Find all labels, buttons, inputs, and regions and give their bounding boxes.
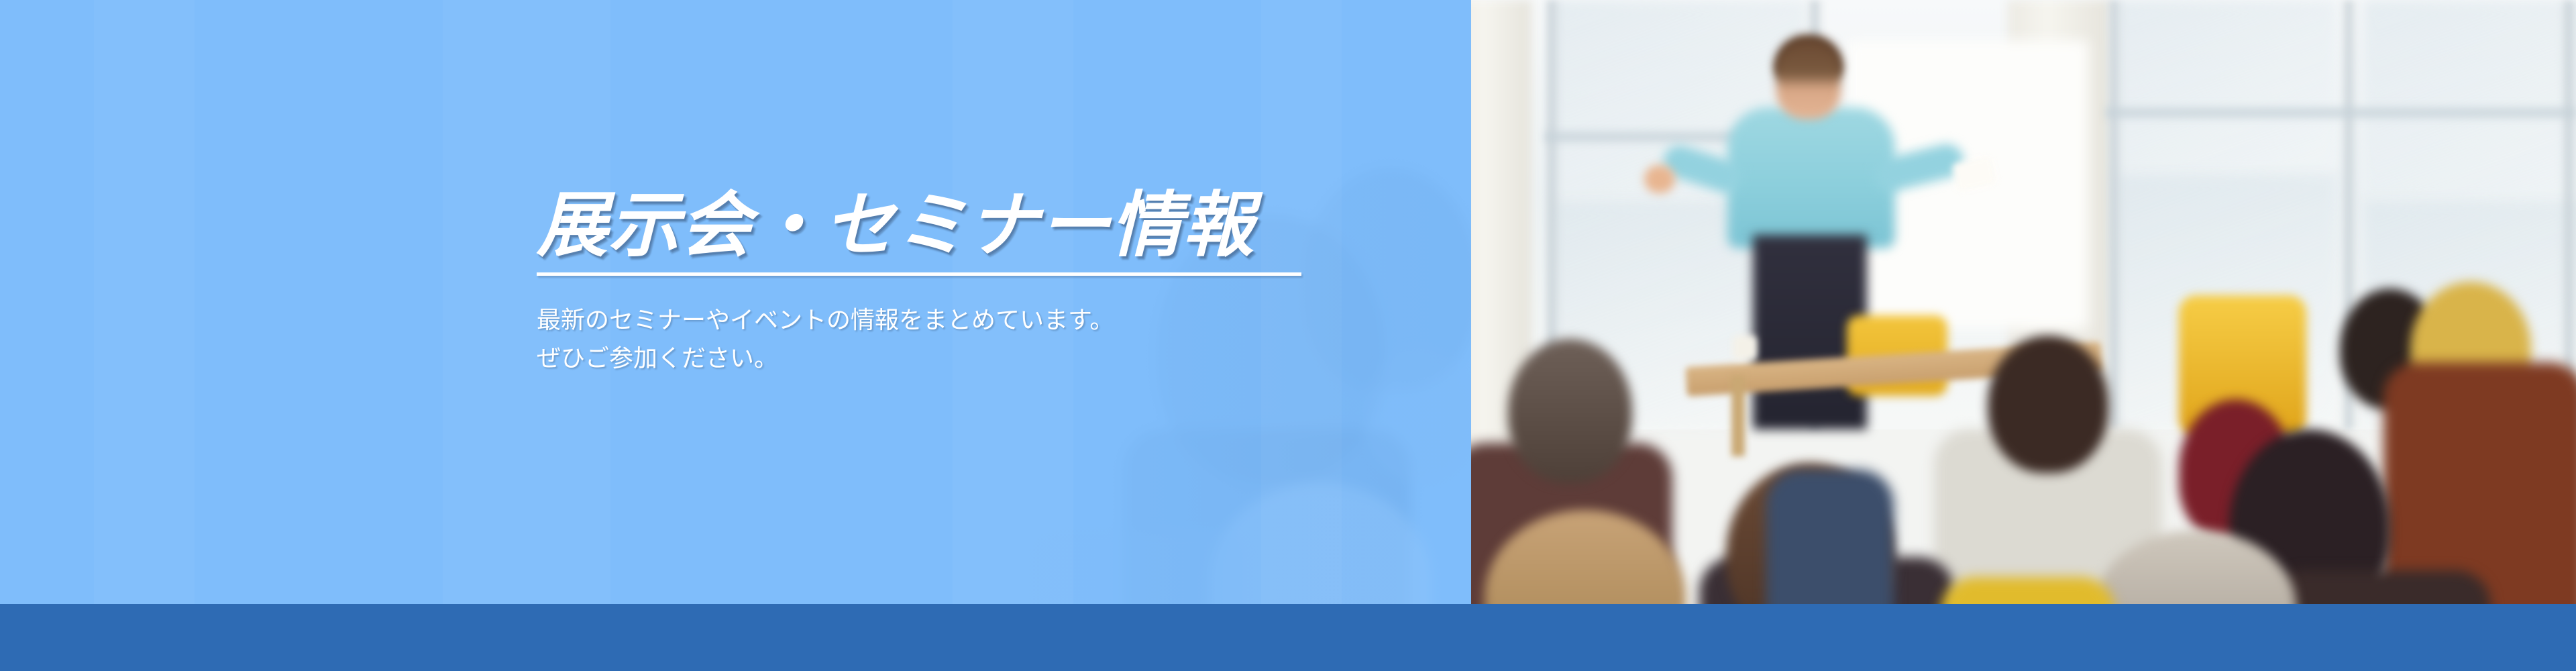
hero-subtitle-line-2: ぜひご参加ください。 [537, 340, 1409, 378]
page-title: 展示会・セミナー情報 [537, 188, 1409, 263]
audience-head-1 [1508, 339, 1632, 483]
hero-text-block: 展示会・セミナー情報 最新のセミナーやイベントの情報をまとめています。 ぜひご参… [537, 188, 1409, 378]
photo-scene [1471, 0, 2576, 604]
table-leg [1731, 376, 1745, 456]
hero-banner: 展示会・セミナー情報 最新のセミナーやイベントの情報をまとめています。 ぜひご参… [0, 0, 2576, 671]
window-transom-2 [2106, 107, 2575, 118]
panel-stripe-1 [94, 0, 195, 604]
audience-body-yellow [1941, 577, 2115, 604]
seminar-photo [1471, 0, 2576, 604]
title-underline [537, 272, 1301, 276]
audience-body-blue [1766, 470, 1894, 604]
hero-subtitle: 最新のセミナーやイベントの情報をまとめています。 ぜひご参加ください。 [537, 301, 1409, 378]
glass-pane-5 [2363, 0, 2576, 201]
speaker-torso [1727, 107, 1895, 248]
glass-pane-3 [2115, 0, 2337, 174]
audience-body-5 [2269, 570, 2491, 604]
audience-body-brown [2383, 362, 2576, 604]
bottom-accent-bar [0, 604, 2576, 671]
table-cup [1733, 335, 1757, 360]
speaker-hand-left [1644, 165, 1675, 193]
hero-subtitle-line-1: 最新のセミナーやイベントの情報をまとめています。 [537, 301, 1409, 340]
window-mullion-3 [2106, 0, 2123, 429]
speaker-head [1776, 40, 1841, 119]
audience-head-2 [1988, 335, 2108, 473]
